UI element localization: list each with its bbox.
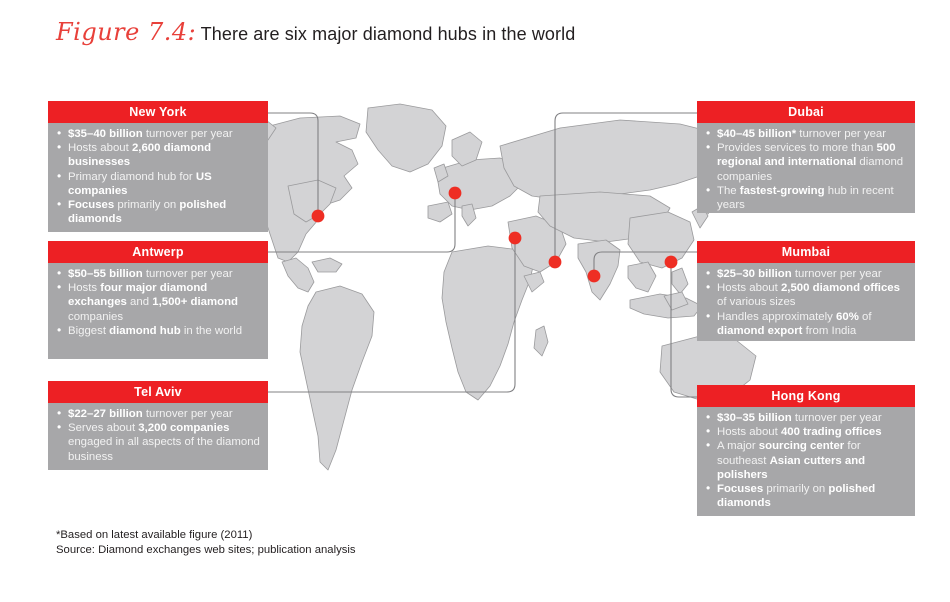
land-india xyxy=(578,240,620,300)
bullet-list-new-york: $35–40 billion turnover per yearHosts ab… xyxy=(56,127,260,226)
panel-header-new-york: New York xyxy=(48,101,268,123)
panel-body-hong-kong: $30–35 billion turnover per yearHosts ab… xyxy=(697,407,915,517)
panel-header-tel-aviv: Tel Aviv xyxy=(48,381,268,403)
bullet-list-antwerp: $50–55 billion turnover per yearHosts fo… xyxy=(56,267,260,338)
bullet-item: Focuses primarily on polished diamonds xyxy=(56,198,260,226)
bullet-item: Hosts about 2,600 diamond businesses xyxy=(56,141,260,169)
land-greenland xyxy=(366,104,446,172)
panel-header-dubai: Dubai xyxy=(697,101,915,123)
bullet-item: Handles approximately 60% of diamond exp… xyxy=(705,310,907,338)
panel-body-mumbai: $25–30 billion turnover per yearHosts ab… xyxy=(697,263,915,345)
bullet-item: $40–45 billion* turnover per year xyxy=(705,127,907,141)
panel-antwerp: Antwerp$50–55 billion turnover per yearH… xyxy=(48,241,268,359)
panel-header-mumbai: Mumbai xyxy=(697,241,915,263)
bullet-item: $25–30 billion turnover per year xyxy=(705,267,907,281)
land-africa xyxy=(442,246,534,400)
marker-dubai[interactable] xyxy=(549,256,562,269)
marker-mumbai[interactable] xyxy=(588,270,601,283)
bullet-list-hong-kong: $30–35 billion turnover per yearHosts ab… xyxy=(705,411,907,510)
land-madagascar xyxy=(534,326,548,356)
panel-body-dubai: $40–45 billion* turnover per yearProvide… xyxy=(697,123,915,219)
figure-canvas: Figure 7.4: There are six major diamond … xyxy=(0,0,950,602)
bullet-item: Focuses primarily on polished diamonds xyxy=(705,482,907,510)
panel-body-antwerp: $50–55 billion turnover per yearHosts fo… xyxy=(48,263,268,345)
panel-body-new-york: $35–40 billion turnover per yearHosts ab… xyxy=(48,123,268,233)
bullet-item: Hosts about 400 trading offices xyxy=(705,425,907,439)
land-china xyxy=(628,212,694,268)
marker-antwerp[interactable] xyxy=(449,187,462,200)
land-africa-horn xyxy=(524,272,544,292)
bullet-item: $30–35 billion turnover per year xyxy=(705,411,907,425)
bullet-list-tel-aviv: $22–27 billion turnover per yearServes a… xyxy=(56,407,260,464)
panel-new-york: New York$35–40 billion turnover per year… xyxy=(48,101,268,232)
bullet-item: Primary diamond hub for US companies xyxy=(56,170,260,198)
bullet-item: Hosts four major diamond exchanges and 1… xyxy=(56,281,260,324)
bullet-item: $22–27 billion turnover per year xyxy=(56,407,260,421)
land-philippines xyxy=(672,268,688,294)
panel-dubai: Dubai$40–45 billion* turnover per yearPr… xyxy=(697,101,915,213)
panel-header-hong-kong: Hong Kong xyxy=(697,385,915,407)
marker-hong-kong[interactable] xyxy=(665,256,678,269)
bullet-item: Biggest diamond hub in the world xyxy=(56,324,260,338)
land-iberia xyxy=(428,202,452,222)
bullet-item: The fastest-growing hub in recent years xyxy=(705,184,907,212)
bullet-item: $50–55 billion turnover per year xyxy=(56,267,260,281)
land-caribbean xyxy=(312,258,342,272)
land-central-america xyxy=(282,258,314,292)
bullet-item: Serves about 3,200 companies engaged in … xyxy=(56,421,260,464)
bullet-item: Provides services to more than 500 regio… xyxy=(705,141,907,184)
land-south-america xyxy=(300,286,374,470)
bullet-item: $35–40 billion turnover per year xyxy=(56,127,260,141)
footnote: *Based on latest available figure (2011)… xyxy=(56,528,356,558)
marker-tel-aviv[interactable] xyxy=(509,232,522,245)
bullet-item: A major sourcing center for southeast As… xyxy=(705,439,907,482)
marker-new-york[interactable] xyxy=(312,210,325,223)
bullet-list-mumbai: $25–30 billion turnover per yearHosts ab… xyxy=(705,267,907,338)
land-southeast-asia xyxy=(628,262,656,292)
panel-header-antwerp: Antwerp xyxy=(48,241,268,263)
panel-hong-kong: Hong Kong$30–35 billion turnover per yea… xyxy=(697,385,915,516)
bullet-list-dubai: $40–45 billion* turnover per yearProvide… xyxy=(705,127,907,212)
panel-tel-aviv: Tel Aviv$22–27 billion turnover per year… xyxy=(48,381,268,470)
bullet-item: Hosts about 2,500 diamond offices of var… xyxy=(705,281,907,309)
panel-mumbai: Mumbai$25–30 billion turnover per yearHo… xyxy=(697,241,915,341)
panel-body-tel-aviv: $22–27 billion turnover per yearServes a… xyxy=(48,403,268,471)
